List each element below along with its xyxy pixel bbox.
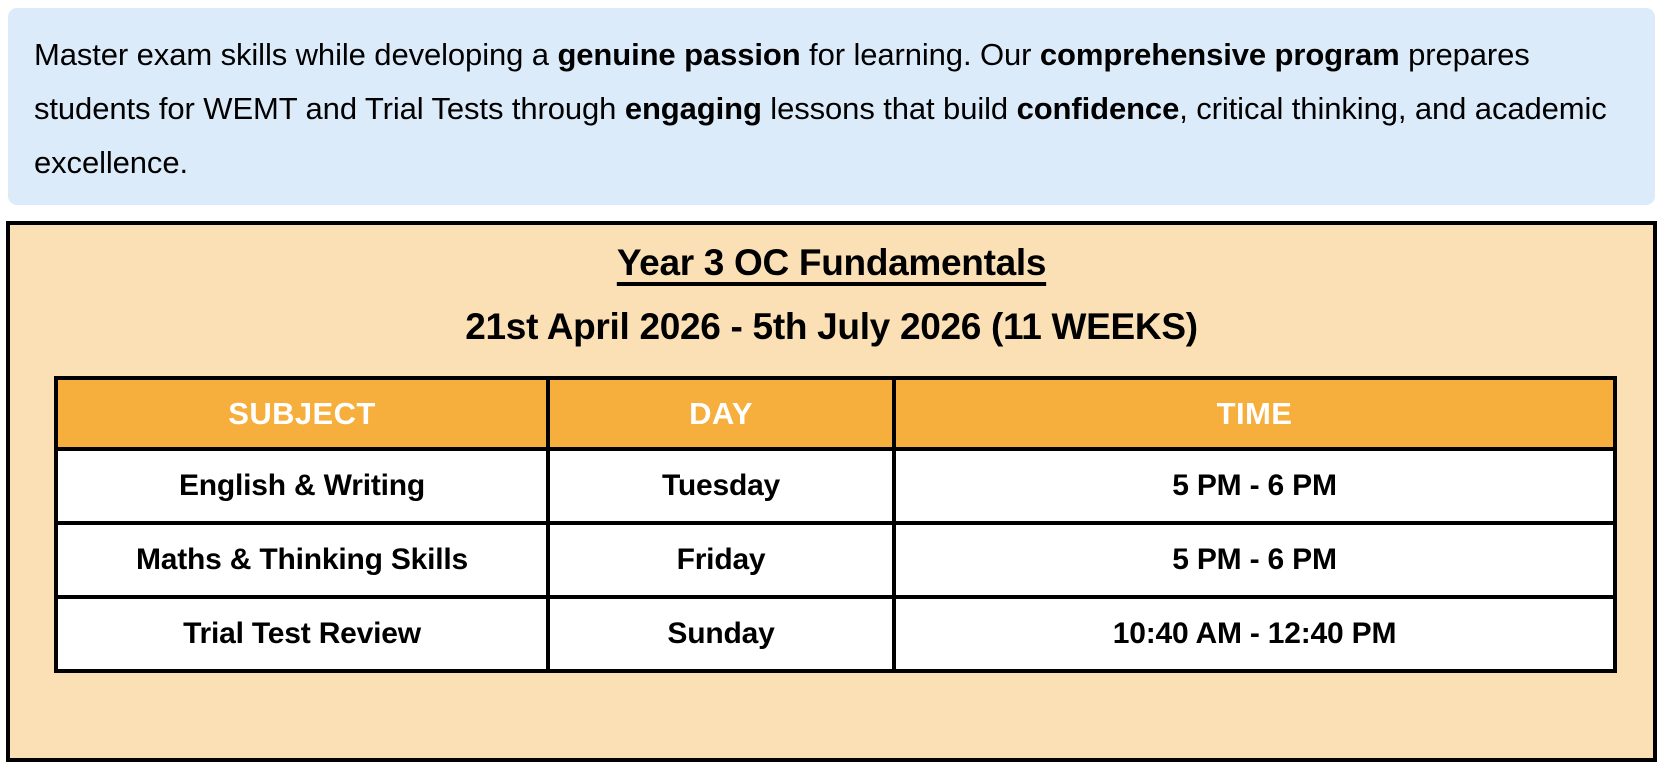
course-date-range: 21st April 2026 - 5th July 2026 (11 WEEK… bbox=[10, 306, 1653, 348]
schedule-table-body: English & Writing Tuesday 5 PM - 6 PM Ma… bbox=[56, 449, 1615, 671]
cell-day: Sunday bbox=[548, 597, 894, 671]
column-header-time: TIME bbox=[894, 378, 1615, 449]
cell-subject: Trial Test Review bbox=[56, 597, 548, 671]
course-title: Year 3 OC Fundamentals bbox=[617, 242, 1046, 284]
intro-panel: Master exam skills while developing a ge… bbox=[8, 8, 1655, 205]
cell-time: 5 PM - 6 PM bbox=[894, 523, 1615, 597]
cell-subject: Maths & Thinking Skills bbox=[56, 523, 548, 597]
table-row: Trial Test Review Sunday 10:40 AM - 12:4… bbox=[56, 597, 1615, 671]
cell-day: Tuesday bbox=[548, 449, 894, 523]
cell-day: Friday bbox=[548, 523, 894, 597]
intro-text-run: lessons that build bbox=[762, 91, 1017, 126]
schedule-table-header: SUBJECT DAY TIME bbox=[56, 378, 1615, 449]
schedule-panel: Year 3 OC Fundamentals 21st April 2026 -… bbox=[6, 221, 1657, 762]
table-row: Maths & Thinking Skills Friday 5 PM - 6 … bbox=[56, 523, 1615, 597]
intro-emphasis: genuine passion bbox=[557, 37, 800, 72]
cell-time: 10:40 AM - 12:40 PM bbox=[894, 597, 1615, 671]
table-row: English & Writing Tuesday 5 PM - 6 PM bbox=[56, 449, 1615, 523]
intro-emphasis: engaging bbox=[625, 91, 762, 126]
schedule-heading: Year 3 OC Fundamentals 21st April 2026 -… bbox=[10, 225, 1653, 348]
intro-text-run: for learning. Our bbox=[801, 37, 1040, 72]
cell-subject: English & Writing bbox=[56, 449, 548, 523]
column-header-day: DAY bbox=[548, 378, 894, 449]
column-header-subject: SUBJECT bbox=[56, 378, 548, 449]
intro-emphasis: comprehensive program bbox=[1040, 37, 1400, 72]
intro-paragraph: Master exam skills while developing a ge… bbox=[34, 28, 1629, 190]
cell-time: 5 PM - 6 PM bbox=[894, 449, 1615, 523]
intro-emphasis: confidence bbox=[1017, 91, 1180, 126]
table-header-row: SUBJECT DAY TIME bbox=[56, 378, 1615, 449]
schedule-table: SUBJECT DAY TIME English & Writing Tuesd… bbox=[54, 376, 1617, 673]
schedule-poster: Master exam skills while developing a ge… bbox=[0, 0, 1663, 765]
intro-text-run: Master exam skills while developing a bbox=[34, 37, 557, 72]
